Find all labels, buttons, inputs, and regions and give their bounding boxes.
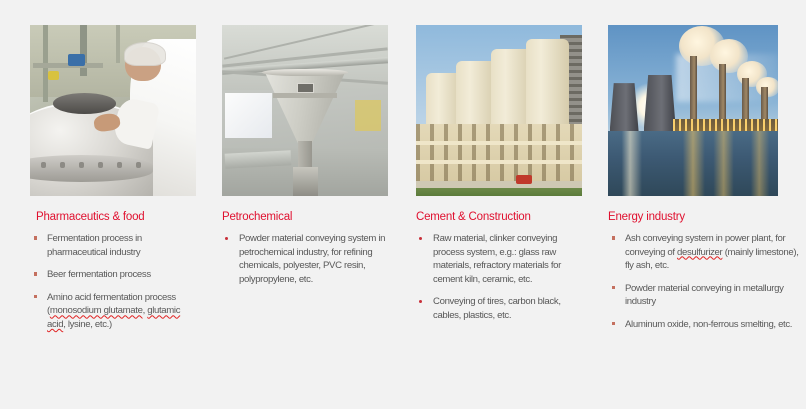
list-item: Aluminum oxide, non-ferrous smelting, et… [608,318,806,332]
cement-silos-photo [416,25,582,196]
bullet-list: Fermentation process in pharmaceutical i… [30,232,194,332]
column-energy-industry: Energy industry Ash conveying system in … [582,0,806,341]
list-item: Fermentation process in pharmaceutical i… [30,232,194,259]
power-plant-photo [608,25,778,196]
list-item: Amino acid fermentation process (monosod… [30,291,194,332]
list-item: Conveying of tires, carbon black, cables… [416,295,582,322]
column-pharmaceutics-food: Pharmaceutics & food Fermentation proces… [0,0,194,341]
column-heading: Energy industry [608,211,806,223]
column-heading: Pharmaceutics & food [36,211,194,223]
industry-applications-slide: Pharmaceutics & food Fermentation proces… [0,0,806,409]
bullet-list: Powder material conveying system in petr… [222,232,388,286]
list-item: Ash conveying system in power plant, for… [608,232,806,273]
column-petrochemical: Petrochemical Powder material conveying … [194,0,388,295]
list-item: Raw material, clinker conveying process … [416,232,582,286]
bullet-list: Raw material, clinker conveying process … [416,232,582,323]
list-item: Beer fermentation process [30,268,194,282]
columns-container: Pharmaceutics & food Fermentation proces… [0,0,806,409]
column-cement-construction: Cement & Construction Raw material, clin… [388,0,582,332]
list-item: Powder material conveying in metallurgy … [608,282,806,309]
bullet-list: Ash conveying system in power plant, for… [608,232,806,332]
cone-hopper-photo [222,25,388,196]
column-heading: Cement & Construction [416,211,582,223]
list-item: Powder material conveying system in petr… [222,232,388,286]
pharmaceutical-vessel-photo [30,25,196,196]
column-heading: Petrochemical [222,211,388,223]
